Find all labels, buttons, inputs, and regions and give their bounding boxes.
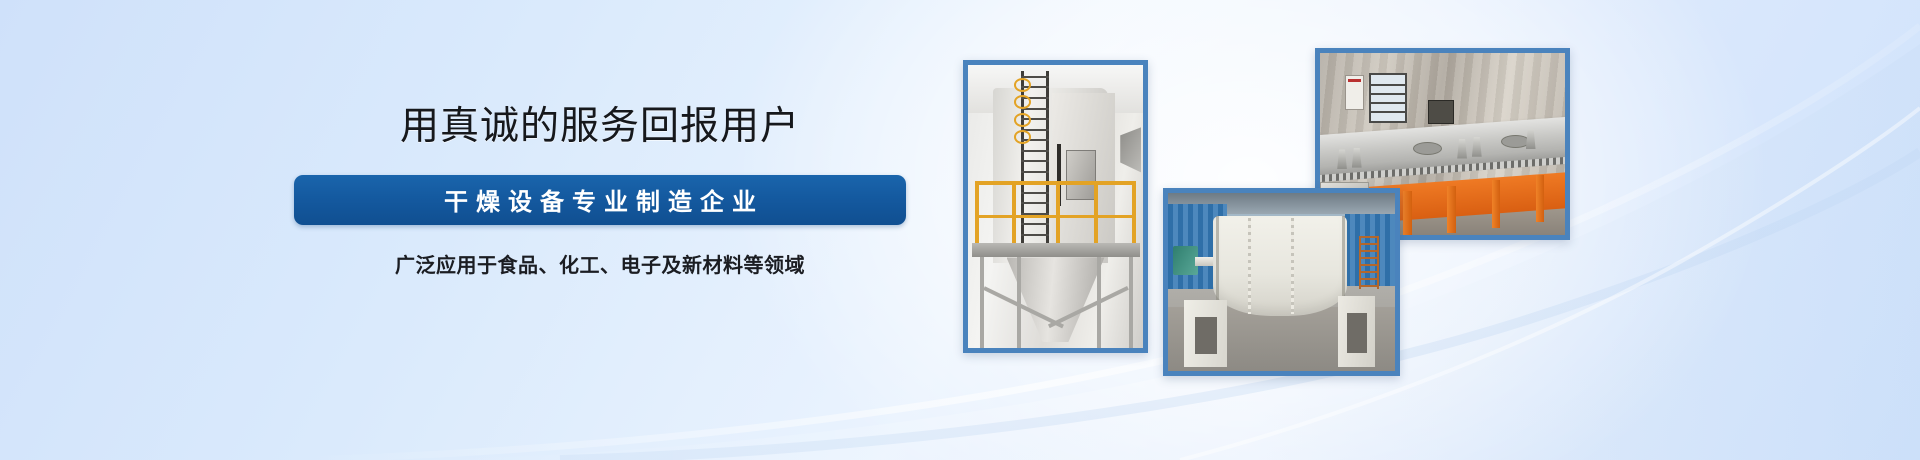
spray-dryer-tower-image [968,65,1143,348]
background-swoosh-decoration [0,0,1920,460]
tagline-bar: 干燥设备专业制造企业 [294,175,906,225]
tagline-text: 干燥设备专业制造企业 [436,182,764,217]
photo-ribbon-mixer[interactable] [1163,188,1400,376]
hero-banner: 用真诚的服务回报用户 干燥设备专业制造企业 广泛应用于食品、化工、电子及新材料等… [0,0,1920,460]
ribbon-mixer-image [1168,193,1395,371]
banner-headline: 用真诚的服务回报用户 [294,104,906,151]
banner-text-block: 用真诚的服务回报用户 干燥设备专业制造企业 广泛应用于食品、化工、电子及新材料等… [294,104,906,278]
photo-spray-dryer-tower[interactable] [963,60,1148,353]
banner-subline: 广泛应用于食品、化工、电子及新材料等领域 [294,249,906,278]
